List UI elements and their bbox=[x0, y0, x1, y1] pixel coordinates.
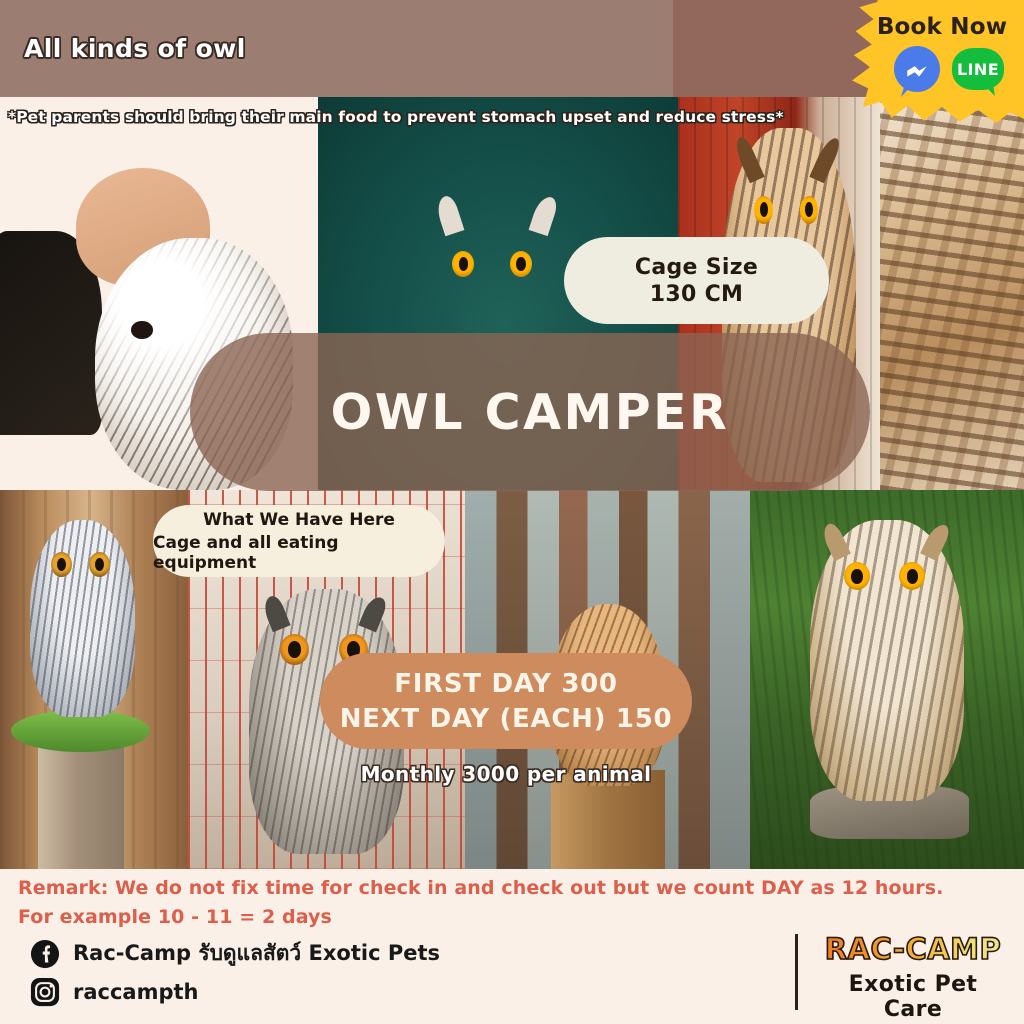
owl-camper-title: OWL CAMPER bbox=[331, 384, 730, 441]
instagram-handle: raccampth bbox=[73, 980, 199, 1004]
price-first-day: FIRST DAY 300 bbox=[394, 669, 617, 699]
logo-divider bbox=[795, 934, 798, 1010]
cage-size-pill: Cage Size 130 CM bbox=[564, 237, 829, 324]
price-next-day: NEXT DAY (EACH) 150 bbox=[340, 704, 673, 734]
instagram-row[interactable]: raccampth bbox=[30, 977, 199, 1007]
page-title: All kinds of owl bbox=[24, 34, 246, 63]
instagram-icon[interactable] bbox=[30, 977, 60, 1007]
poster-canvas: All kinds of owl Book Now LINE *Pet pare… bbox=[0, 0, 1024, 1024]
remark-line-2: For example 10 - 11 = 2 days bbox=[18, 906, 332, 928]
logo-name: RAC-CAMP bbox=[817, 932, 1009, 966]
book-now-channels: LINE bbox=[852, 46, 1024, 92]
line-label: LINE bbox=[957, 60, 999, 79]
remark-line-1: Remark: We do not fix time for check in … bbox=[18, 877, 943, 899]
brand-logo: RAC-CAMP Exotic Pet Care bbox=[795, 932, 1009, 1014]
photo-eagle-owl-on-grass bbox=[750, 490, 1024, 869]
book-now-label: Book Now bbox=[852, 14, 1024, 40]
facebook-row[interactable]: Rac-Camp รับดูแลสัตว์ Exotic Pets bbox=[30, 937, 440, 970]
facebook-handle: Rac-Camp รับดูแลสัตว์ Exotic Pets bbox=[73, 937, 440, 970]
photo-owl-wing-feathers bbox=[880, 97, 1024, 490]
owl-camper-title-banner: OWL CAMPER bbox=[190, 333, 870, 491]
messenger-icon[interactable] bbox=[894, 46, 940, 92]
what-we-have-pill: What We Have Here Cage and all eating eq… bbox=[153, 505, 445, 577]
facebook-icon[interactable] bbox=[30, 939, 60, 969]
cage-size-value: 130 CM bbox=[650, 282, 743, 307]
line-icon[interactable]: LINE bbox=[952, 48, 1004, 90]
what-we-have-detail: Cage and all eating equipment bbox=[153, 533, 445, 573]
price-monthly: Monthly 3000 per animal bbox=[320, 762, 692, 786]
pricing-pill: FIRST DAY 300 NEXT DAY (EACH) 150 bbox=[320, 653, 692, 749]
cage-size-label: Cage Size bbox=[635, 255, 758, 280]
logo-tagline: Exotic Pet Care bbox=[817, 972, 1009, 1022]
what-we-have-heading: What We Have Here bbox=[203, 510, 395, 530]
food-note-banner: *Pet parents should bring their main foo… bbox=[0, 108, 1024, 126]
